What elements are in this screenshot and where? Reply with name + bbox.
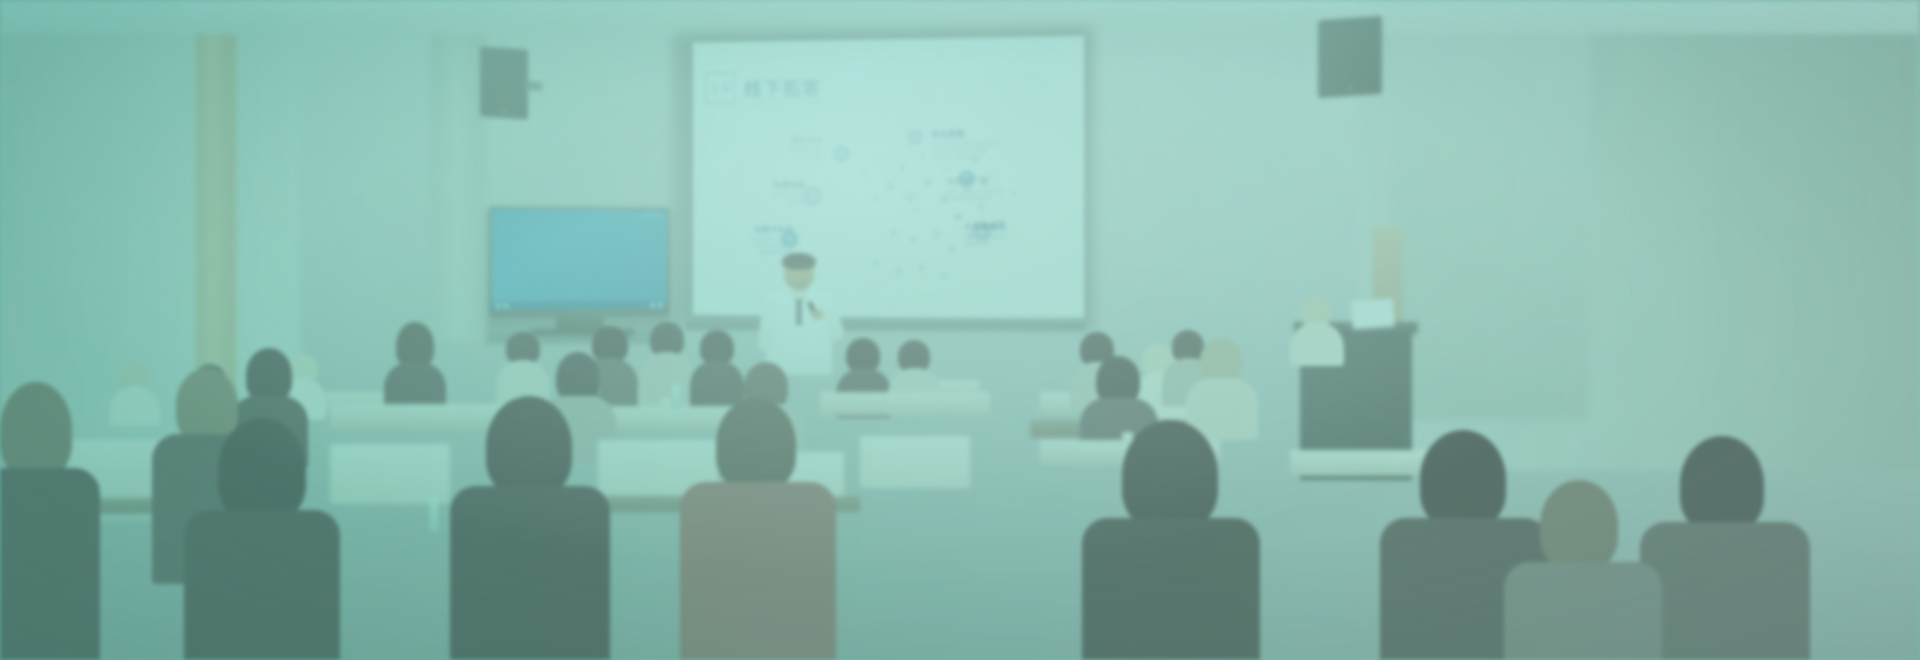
color-overlay-screen (0, 0, 1920, 660)
screenshot-root: 1.0 线下拓客 OFFLINE CUSTOMER EXPANSION (0, 0, 1920, 660)
